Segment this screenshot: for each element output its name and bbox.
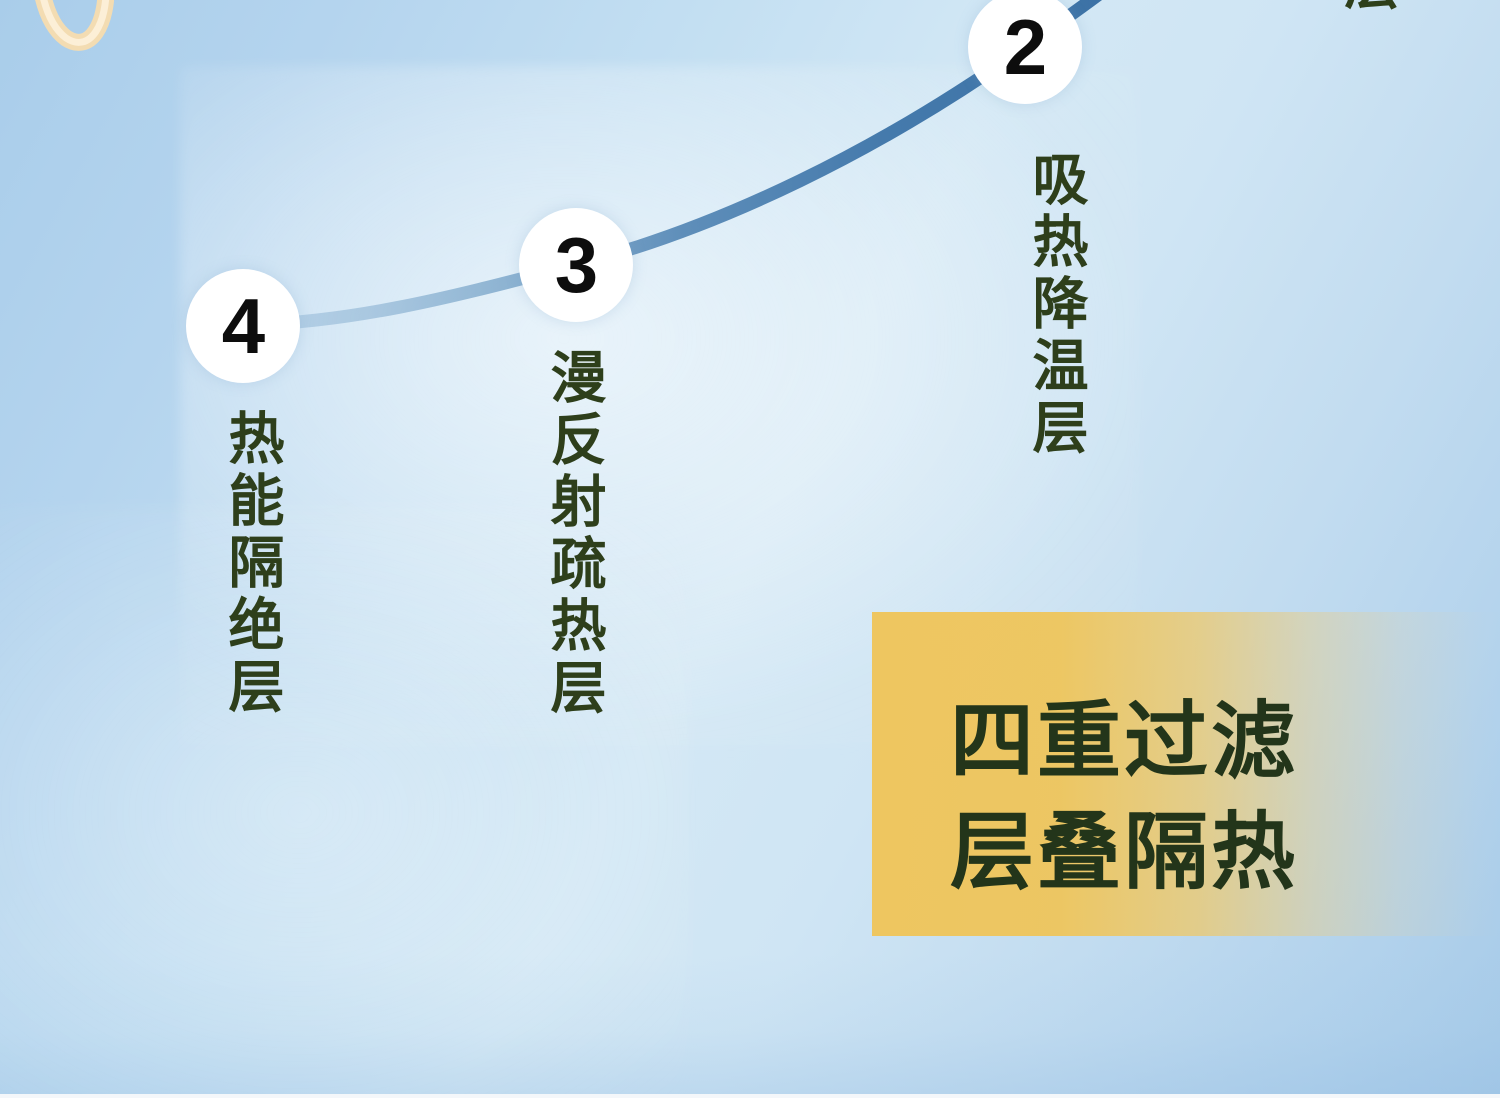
- layer-label-3: 漫反射疏热层: [546, 348, 602, 720]
- step-node-4[interactable]: 4: [186, 269, 300, 383]
- beige-loop-illustration: [28, 0, 114, 62]
- highlight-banner-line-1: 四重过滤: [950, 686, 1298, 797]
- step-number-3: 3: [555, 226, 597, 304]
- step-number-2: 2: [1004, 8, 1046, 86]
- highlight-banner-line-2: 层叠隔热: [950, 797, 1298, 908]
- layer-label-2: 吸热降温层: [1028, 150, 1084, 460]
- step-number-4: 4: [222, 287, 264, 365]
- background-bottom-band: [0, 954, 1500, 1094]
- layer-label-clipped-top-right: 层: [1340, 0, 1396, 16]
- step-node-3[interactable]: 3: [519, 208, 633, 322]
- bottom-white-edge: [0, 1094, 1500, 1098]
- highlight-banner-text: 四重过滤 层叠隔热: [950, 686, 1298, 908]
- layer-label-4: 热能隔绝层: [224, 409, 280, 719]
- poster-canvas: 2 3 4 层 吸热降温层 漫反射疏热层 热能隔绝层 四重过滤 层叠隔热: [0, 0, 1500, 1098]
